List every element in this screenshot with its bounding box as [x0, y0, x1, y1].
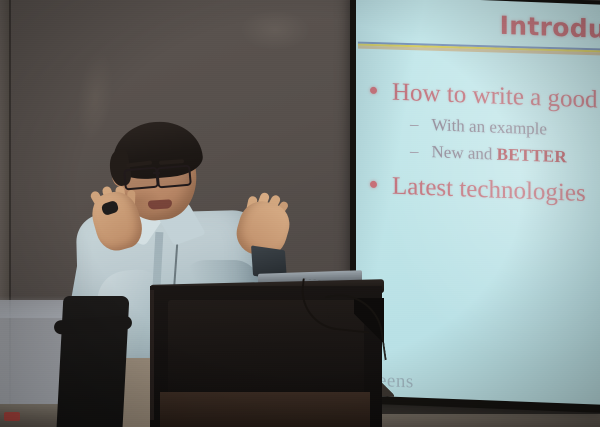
slide-title-divider [358, 42, 600, 56]
dash-icon: – [410, 114, 419, 134]
podium-base [160, 392, 370, 427]
slide-sub-bullet-text-emphasis: New and BETTER [432, 142, 567, 167]
bullet-dot-icon [370, 87, 377, 94]
bullet-dot-icon [370, 180, 377, 187]
slide-sub-bullet-text: With an example [432, 115, 547, 139]
glasses-lens-left [123, 167, 159, 191]
slide-sub-bullet-item: – With an example [410, 114, 600, 142]
slide-bullet-text: Latest technologies [392, 172, 586, 207]
wall-smudge [240, 10, 310, 50]
presentation-slide: Introdu How to write a good – With an ex… [356, 0, 600, 405]
slide-sub-bullet-item: – New and BETTER [410, 141, 600, 169]
slide-bullet-item: How to write a good [364, 78, 600, 115]
podium-edge [150, 290, 154, 420]
slide-title: Introdu [500, 11, 600, 44]
floor-marker [4, 412, 20, 421]
speaker-mouth [148, 199, 172, 209]
glasses-bridge [153, 172, 160, 174]
projection-screen: Introdu How to write a good – With an ex… [356, 0, 600, 405]
glasses-lens-right [156, 165, 192, 189]
slide-bullet-text: How to write a good [392, 79, 598, 114]
presentation-photograph: Introdu How to write a good – With an ex… [0, 0, 600, 427]
dash-icon: – [410, 141, 419, 161]
sub-bullet-lead-text: New and [432, 142, 497, 164]
slide-bullet-item: Latest technologies [364, 171, 600, 208]
sub-bullet-emphasis: BETTER [497, 144, 567, 166]
slide-bullet-list: How to write a good – With an example – … [364, 68, 600, 209]
